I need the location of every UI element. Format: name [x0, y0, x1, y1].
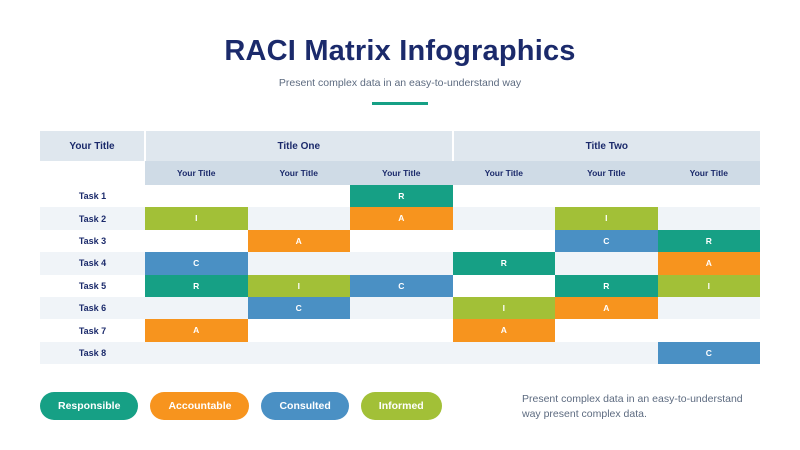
- raci-cell-empty: [453, 230, 556, 252]
- raci-marker: R: [555, 275, 658, 297]
- task-label: Task 5: [40, 275, 145, 297]
- raci-cell-R[interactable]: R: [555, 275, 658, 297]
- raci-marker: C: [248, 297, 351, 319]
- raci-cell-empty: [453, 207, 556, 229]
- raci-cell-C[interactable]: C: [350, 275, 453, 297]
- raci-cell-empty: [453, 342, 556, 364]
- raci-cell-A[interactable]: A: [453, 319, 556, 341]
- raci-cell-A[interactable]: A: [658, 252, 761, 274]
- raci-marker: A: [658, 252, 761, 274]
- matrix-column-header-6: Your Title: [658, 161, 761, 185]
- raci-cell-empty: [350, 297, 453, 319]
- table-row: Task 3ACR: [40, 230, 760, 252]
- legend-pill-consulted[interactable]: Consulted: [261, 392, 348, 420]
- raci-cell-empty: [658, 207, 761, 229]
- table-row: Task 8C: [40, 342, 760, 364]
- table-row: Task 6CIA: [40, 297, 760, 319]
- matrix-column-header-3: Your Title: [350, 161, 453, 185]
- matrix-column-header-5: Your Title: [555, 161, 658, 185]
- raci-marker: R: [453, 252, 556, 274]
- raci-marker: I: [453, 297, 556, 319]
- raci-cell-empty: [350, 319, 453, 341]
- table-row: Task 7AA: [40, 319, 760, 341]
- raci-matrix: Your TitleTitle OneTitle Two Your TitleY…: [40, 131, 760, 364]
- raci-cell-I[interactable]: I: [453, 297, 556, 319]
- raci-cell-R[interactable]: R: [453, 252, 556, 274]
- task-label: Task 6: [40, 297, 145, 319]
- raci-cell-empty: [248, 342, 351, 364]
- legend-pill-informed[interactable]: Informed: [361, 392, 442, 420]
- legend-pill-responsible[interactable]: Responsible: [40, 392, 138, 420]
- raci-cell-empty: [248, 252, 351, 274]
- raci-cell-empty: [555, 252, 658, 274]
- raci-cell-C[interactable]: C: [555, 230, 658, 252]
- raci-cell-empty: [555, 319, 658, 341]
- raci-cell-empty: [350, 252, 453, 274]
- raci-cell-R[interactable]: R: [658, 230, 761, 252]
- raci-marker: R: [658, 230, 761, 252]
- slide: RACI Matrix Infographics Present complex…: [0, 0, 800, 450]
- raci-marker: A: [555, 297, 658, 319]
- raci-cell-empty: [453, 185, 556, 207]
- raci-marker: A: [248, 230, 351, 252]
- legend-note: Present complex data in an easy-to-under…: [522, 392, 762, 422]
- table-row: Task 4CRA: [40, 252, 760, 274]
- raci-cell-C[interactable]: C: [248, 297, 351, 319]
- raci-cell-empty: [555, 185, 658, 207]
- raci-cell-A[interactable]: A: [248, 230, 351, 252]
- raci-cell-R[interactable]: R: [350, 185, 453, 207]
- matrix-column-header-4: Your Title: [453, 161, 556, 185]
- raci-marker: A: [145, 319, 248, 341]
- raci-cell-I[interactable]: I: [145, 207, 248, 229]
- raci-marker: A: [350, 207, 453, 229]
- raci-marker: C: [658, 342, 761, 364]
- legend: ResponsibleAccountableConsultedInformed: [40, 392, 442, 420]
- task-label: Task 4: [40, 252, 145, 274]
- task-label: Task 1: [40, 185, 145, 207]
- table-row: Task 2IAI: [40, 207, 760, 229]
- matrix-group-header-2: Title One: [145, 131, 453, 161]
- raci-cell-A[interactable]: A: [555, 297, 658, 319]
- matrix-corner-cell: [40, 161, 145, 185]
- raci-marker: I: [145, 207, 248, 229]
- raci-cell-empty: [248, 319, 351, 341]
- table-row: Task 1R: [40, 185, 760, 207]
- raci-cell-empty: [453, 275, 556, 297]
- raci-cell-empty: [145, 230, 248, 252]
- page-subtitle: Present complex data in an easy-to-under…: [0, 68, 800, 89]
- raci-cell-empty: [658, 297, 761, 319]
- task-label: Task 3: [40, 230, 145, 252]
- raci-cell-empty: [248, 207, 351, 229]
- raci-cell-empty: [248, 185, 351, 207]
- matrix-column-header-2: Your Title: [248, 161, 351, 185]
- raci-cell-A[interactable]: A: [145, 319, 248, 341]
- matrix-group-header-1: Your Title: [40, 131, 145, 161]
- raci-marker: C: [555, 230, 658, 252]
- matrix-group-header-3: Title Two: [453, 131, 761, 161]
- raci-cell-I[interactable]: I: [658, 275, 761, 297]
- matrix-group-header-row: Your TitleTitle OneTitle Two: [40, 131, 760, 161]
- raci-marker: I: [555, 207, 658, 229]
- table-row: Task 5RICRI: [40, 275, 760, 297]
- task-label: Task 8: [40, 342, 145, 364]
- raci-marker: C: [145, 252, 248, 274]
- title-divider: [372, 102, 428, 105]
- raci-cell-empty: [145, 185, 248, 207]
- raci-cell-R[interactable]: R: [145, 275, 248, 297]
- raci-marker: C: [350, 275, 453, 297]
- raci-marker: I: [658, 275, 761, 297]
- raci-marker: I: [248, 275, 351, 297]
- matrix-column-header-row: Your TitleYour TitleYour TitleYour Title…: [40, 161, 760, 185]
- raci-cell-empty: [350, 230, 453, 252]
- raci-cell-C[interactable]: C: [145, 252, 248, 274]
- raci-cell-I[interactable]: I: [555, 207, 658, 229]
- raci-marker: R: [350, 185, 453, 207]
- raci-cell-empty: [658, 185, 761, 207]
- task-label: Task 2: [40, 207, 145, 229]
- legend-pill-accountable[interactable]: Accountable: [150, 392, 249, 420]
- raci-cell-empty: [555, 342, 658, 364]
- raci-cell-empty: [145, 342, 248, 364]
- raci-cell-A[interactable]: A: [350, 207, 453, 229]
- raci-cell-empty: [350, 342, 453, 364]
- raci-cell-I[interactable]: I: [248, 275, 351, 297]
- raci-marker: A: [453, 319, 556, 341]
- raci-cell-C[interactable]: C: [658, 342, 761, 364]
- raci-cell-empty: [145, 297, 248, 319]
- matrix-column-header-1: Your Title: [145, 161, 248, 185]
- task-label: Task 7: [40, 319, 145, 341]
- raci-marker: R: [145, 275, 248, 297]
- raci-cell-empty: [658, 319, 761, 341]
- page-title: RACI Matrix Infographics: [0, 0, 800, 68]
